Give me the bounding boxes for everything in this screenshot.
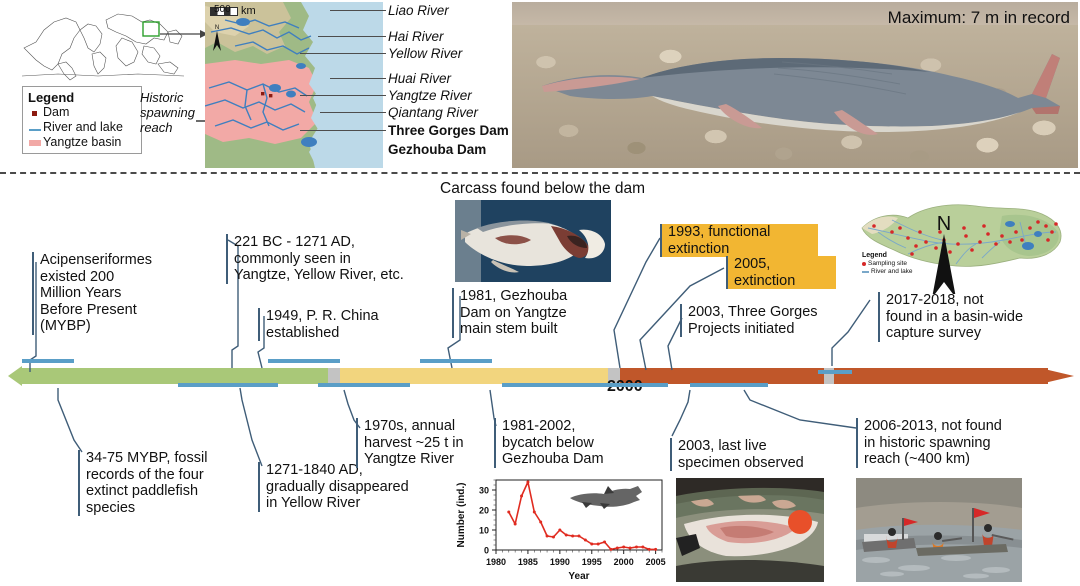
carcass-photo (455, 200, 611, 282)
river-label-huai: Huai River (388, 71, 451, 86)
svg-text:20: 20 (479, 506, 489, 516)
event-1981-2002-bycatch: 1981-2002, bycatch below Gezhouba Dam (494, 418, 634, 468)
river-swatch-icon (28, 120, 41, 135)
north-arrow-icon: N (210, 22, 224, 52)
event-line: Before Present (40, 302, 218, 319)
event-34-75-mybp: 34-75 MYBP, fossil records of the four e… (78, 450, 250, 516)
timeline-segment-modern (620, 368, 1048, 384)
event-line: capture survey (886, 325, 1070, 342)
event-line: (MYBP) (40, 318, 218, 335)
svg-text:2000: 2000 (614, 557, 634, 567)
river-label-hai: Hai River (388, 29, 444, 44)
max-record-caption: Maximum: 7 m in record (888, 8, 1070, 28)
carcass-photo-title: Carcass found below the dam (440, 180, 645, 198)
event-line: Gezhouba Dam (502, 451, 634, 468)
map-legend: Legend Dam River and lake Yangtze basin (22, 86, 142, 154)
legend-title: Legend (28, 90, 136, 105)
world-map-arrow-icon (160, 28, 208, 40)
river-label-yangtze: Yangtze River (388, 88, 472, 103)
event-1981-gezhouba: 1981, Gezhouba Dam on Yangtze main stem … (452, 288, 602, 338)
event-line: found in a basin-wide (886, 309, 1070, 326)
event-line: Yangtze River (364, 451, 502, 468)
svg-text:0: 0 (484, 546, 489, 556)
timeline-segment-deep-time (22, 368, 328, 384)
world-map (18, 4, 190, 82)
event-line: in historic spawning (864, 435, 1042, 452)
event-line: existed 200 (40, 269, 218, 286)
river-label-three-gorges-dam: Three Gorges Dam (388, 123, 509, 138)
svg-text:1995: 1995 (582, 557, 602, 567)
event-2017-2018-survey: 2017-2018, not found in a basin-wide cap… (878, 292, 1070, 342)
svg-text:1980: 1980 (486, 557, 506, 567)
event-line: Projects initiated (688, 321, 842, 338)
svg-text:1985: 1985 (518, 557, 538, 567)
event-line: Yangtze, Yellow River, etc. (234, 267, 444, 284)
basin-legend-title: Legend (862, 252, 913, 260)
event-1949-prc: 1949, P. R. China established (258, 308, 428, 341)
river-label-liao: Liao River (388, 3, 449, 18)
event-line: commonly seen in (234, 251, 444, 268)
svg-text:Number (ind.): Number (ind.) (456, 483, 467, 548)
event-line: bycatch below (502, 435, 634, 452)
china-regional-map (205, 2, 383, 168)
leader-liao (330, 10, 386, 11)
river-label-qiantang: Qiantang River (388, 105, 478, 120)
event-1970s-harvest: 1970s, annual harvest ~25 t in Yangtze R… (356, 418, 502, 468)
timeline-tick-2000 (824, 368, 834, 384)
event-line: 2003, Three Gorges (688, 304, 842, 321)
timeline-right-arrow-icon (1040, 362, 1074, 390)
basin-legend-label-river: River and lake (871, 268, 913, 276)
event-2006-2013-spawning: 2006-2013, not found in historic spawnin… (856, 418, 1042, 468)
event-line: established (266, 325, 428, 342)
basin-legend-label-site: Sampling site (868, 260, 907, 268)
basin-legend-item-river: River and lake (862, 268, 913, 276)
scalebar-value: 500 (214, 4, 231, 15)
basin-swatch-icon (28, 135, 41, 150)
historic-spawning-text-2: spawning (140, 105, 195, 120)
legend-label-river: River and lake (43, 120, 123, 135)
leader-huai (330, 78, 386, 79)
timeline-segment-divider-1 (328, 368, 340, 384)
basin-north-arrow-icon: N (852, 206, 1054, 294)
event-2003-last-live: 2003, last live specimen observed (670, 438, 826, 471)
timeline-segment-historic (340, 368, 608, 384)
svg-text:10: 10 (479, 526, 489, 536)
event-line: 2005, (734, 256, 836, 273)
event-line: extinction (668, 241, 818, 258)
event-line: extinction (734, 273, 836, 290)
event-1271-1840: 1271-1840 AD, gradually disappeared in Y… (258, 462, 444, 512)
panel-divider (0, 172, 1080, 174)
event-line: reach (~400 km) (864, 451, 1042, 468)
event-line: records of the four (86, 467, 250, 484)
svg-text:Year: Year (568, 571, 589, 582)
event-line: 1949, P. R. China (266, 308, 428, 325)
basin-map-legend: Legend Sampling site River and lake (862, 252, 913, 276)
river-label-gezhouba-dam: Gezhouba Dam (388, 142, 486, 157)
leader-hai (318, 36, 386, 37)
figure-root: Legend Dam River and lake Yangtze basin … (0, 0, 1080, 586)
event-2005-extinction: 2005, extinction (726, 256, 836, 289)
event-line: extinct paddlefish (86, 483, 250, 500)
event-line: gradually disappeared (266, 479, 444, 496)
legend-item-basin: Yangtze basin (28, 135, 136, 150)
sampling-site-swatch-icon (862, 262, 866, 266)
event-line: 1970s, annual (364, 418, 502, 435)
svg-text:2005: 2005 (646, 557, 666, 567)
historic-spawning-note: Historic spawning reach (140, 90, 202, 135)
svg-text:1990: 1990 (550, 557, 570, 567)
event-line: in Yellow River (266, 495, 444, 512)
event-line: 2017-2018, not (886, 292, 1070, 309)
basin-legend-item-site: Sampling site (862, 260, 913, 268)
historic-spawning-text-3: reach (140, 120, 173, 135)
timeline-year-2000-label: 2000 (607, 378, 643, 396)
event-line: Dam on Yangtze (460, 305, 602, 322)
dam-swatch-icon (28, 105, 41, 120)
event-line: 221 BC - 1271 AD, (234, 234, 444, 251)
yangtze-basin-survey-map: N (852, 198, 1072, 294)
basin-river-swatch-icon (862, 271, 869, 273)
scalebar-unit: km (241, 5, 256, 17)
event-line: 1993, functional (668, 224, 818, 241)
legend-item-dam: Dam (28, 105, 136, 120)
event-line: 34-75 MYBP, fossil (86, 450, 250, 467)
paddlefish-photo: Maximum: 7 m in record (512, 2, 1078, 168)
spawning-reach-survey-photo (856, 478, 1022, 582)
legend-label-dam: Dam (43, 105, 69, 120)
leader-qiantang (320, 112, 386, 113)
svg-text:N: N (937, 213, 951, 235)
map-scalebar: 500 km (210, 5, 256, 17)
svg-text:30: 30 (479, 486, 489, 496)
river-label-yellow: Yellow River (388, 46, 462, 61)
historic-spawning-text: Historic (140, 90, 183, 105)
last-specimen-photo (676, 478, 824, 582)
event-2003-three-gorges: 2003, Three Gorges Projects initiated (680, 304, 842, 337)
event-line: Acipenseriformes (40, 252, 218, 269)
leader-three-gorges (300, 130, 386, 131)
event-line: species (86, 500, 250, 517)
event-1993-functional-extinction: 1993, functional extinction (660, 224, 818, 257)
event-line: specimen observed (678, 455, 826, 472)
bycatch-line-chart: 0102030198019851990199520002005Number (i… (452, 472, 670, 584)
carcass-illustration (455, 200, 611, 282)
legend-item-river: River and lake (28, 120, 136, 135)
event-line: 1981, Gezhouba (460, 288, 602, 305)
event-acipenseriformes: Acipenseriformes existed 200 Million Yea… (32, 252, 218, 335)
svg-text:N: N (215, 25, 219, 31)
leader-yangtze (300, 95, 386, 96)
event-221bc-1271ad: 221 BC - 1271 AD, commonly seen in Yangt… (226, 234, 444, 284)
last-specimen-illustration (676, 478, 824, 582)
event-line: main stem built (460, 321, 602, 338)
event-line: 1981-2002, (502, 418, 634, 435)
event-line: harvest ~25 t in (364, 435, 502, 452)
legend-label-basin: Yangtze basin (43, 135, 121, 150)
event-line: Million Years (40, 285, 218, 302)
leader-yellow (300, 53, 386, 54)
event-line: 2006-2013, not found (864, 418, 1042, 435)
top-panel: Legend Dam River and lake Yangtze basin … (0, 0, 1080, 172)
event-line: 2003, last live (678, 438, 826, 455)
timeline-axis (8, 362, 1068, 388)
survey-illustration (856, 478, 1022, 582)
